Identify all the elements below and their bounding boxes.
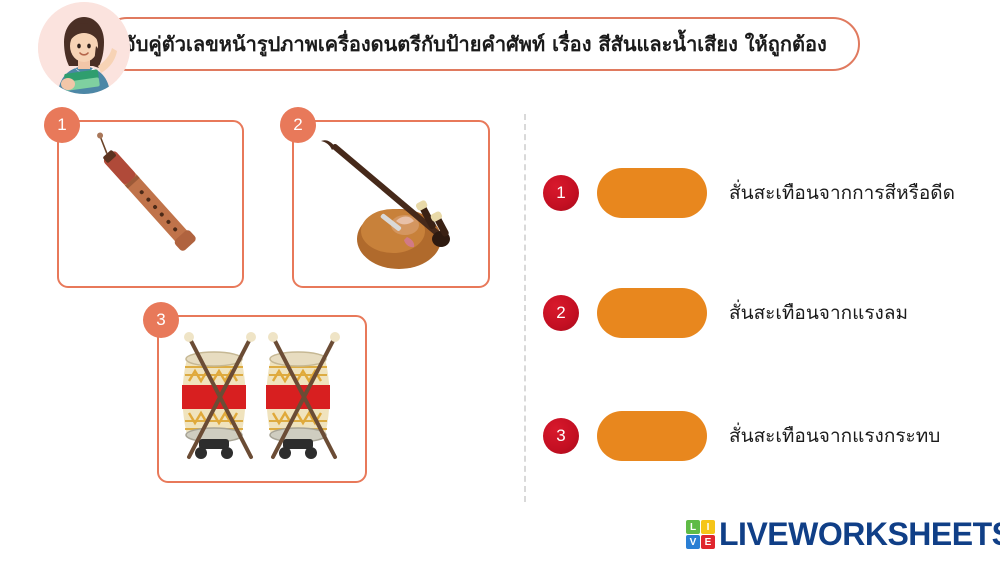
worksheet-page: จับคู่ตัวเลขหน้ารูปภาพเครื่องดนตรีกับป้า… [0,0,1000,563]
logo-wordmark: LIVEWORKSHEETS [719,516,1000,553]
answer-label-2: สั่นสะเทือนจากแรงลม [729,301,908,326]
answer-dropzone-3[interactable] [597,411,707,461]
logo-tile-i: I [701,520,715,534]
image-card-3 [157,315,367,483]
section-divider [524,114,526,502]
answer-row-1: 1 สั่นสะเทือนจากการสีหรือดีด [543,165,983,221]
answer-dropzone-2[interactable] [597,288,707,338]
page-title: จับคู่ตัวเลขหน้ารูปภาพเครื่องดนตรีกับป้า… [124,17,854,71]
card-badge-3: 3 [143,302,179,338]
image-card-1 [57,120,244,288]
answer-dropzone-1[interactable] [597,168,707,218]
answer-badge-2: 2 [543,295,579,331]
answer-row-2: 2 สั่นสะเทือนจากแรงลม [543,285,983,341]
card-badge-2: 2 [280,107,316,143]
liveworksheets-logo: L I V E LIVEWORKSHEETS [686,516,1000,553]
answer-row-3: 3 สั่นสะเทือนจากแรงกระทบ [543,408,983,464]
teacher-avatar [38,2,130,94]
logo-tile-v: V [686,535,700,549]
logo-tile-e: E [701,535,715,549]
logo-tile-l: L [686,520,700,534]
logo-tile-grid: L I V E [686,520,715,549]
answer-label-1: สั่นสะเทือนจากการสีหรือดีด [729,181,955,206]
card-2-artwork [294,122,488,286]
card-3-artwork [159,317,365,481]
answer-badge-1: 1 [543,175,579,211]
answer-label-3: สั่นสะเทือนจากแรงกระทบ [729,424,940,449]
image-card-2 [292,120,490,288]
card-badge-1: 1 [44,107,80,143]
card-1-artwork [59,122,242,286]
answer-badge-3: 3 [543,418,579,454]
